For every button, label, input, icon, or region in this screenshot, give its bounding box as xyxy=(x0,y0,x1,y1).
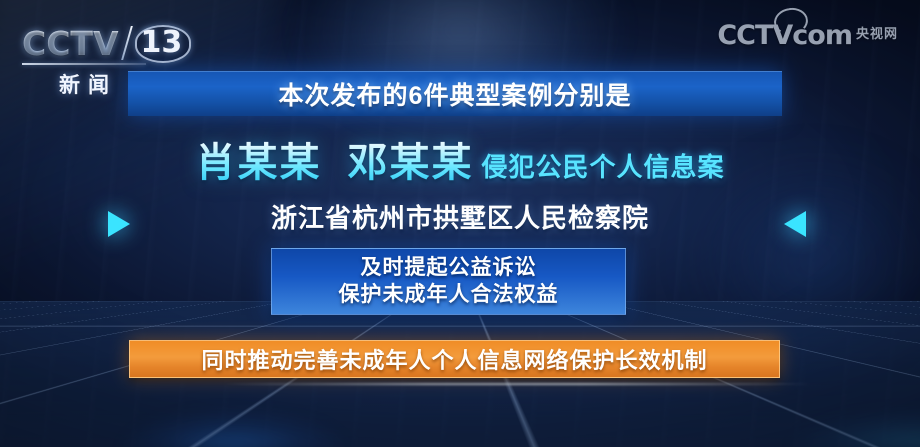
channel-number: 13 xyxy=(141,25,183,60)
case-title-line: 肖某某 邓某某 侵犯公民个人信息案 xyxy=(0,130,920,188)
triangle-right-icon xyxy=(108,211,130,237)
headline-banner: 本次发布的6件典型案例分别是 xyxy=(128,71,782,116)
logo-slash-divider xyxy=(121,26,133,60)
watermark-wordmark: CCTVcom xyxy=(717,22,852,49)
triangle-left-icon xyxy=(784,211,806,237)
channel-logo: CCTV 13 新闻 xyxy=(22,26,191,99)
headline-text: 本次发布的6件典型案例分别是 xyxy=(279,76,632,112)
cctv-wordmark: CCTV xyxy=(22,27,119,60)
action-highlight-line-1: 及时提起公益诉讼 xyxy=(361,255,537,281)
outcome-banner: 同时推动完善未成年人个人信息网络保护长效机制 xyxy=(129,340,780,378)
outcome-banner-text: 同时推动完善未成年人个人信息网络保护长效机制 xyxy=(201,343,707,375)
site-watermark: CCTVcom 央视网 xyxy=(717,22,898,49)
action-highlight-line-2: 保护未成年人合法权益 xyxy=(339,282,559,308)
case-defendant-name-2: 邓某某 xyxy=(347,130,473,188)
broadcast-frame: CCTV 13 新闻 CCTVcom 央视网 本次发布的6件典型案例分别是 肖某… xyxy=(0,0,920,447)
action-highlight-box: 及时提起公益诉讼 保护未成年人合法权益 xyxy=(271,248,626,315)
case-charge-label: 侵犯公民个人信息案 xyxy=(481,147,724,184)
channel-subtitle: 新闻 xyxy=(22,69,146,99)
watermark-cn-label: 央视网 xyxy=(856,23,898,42)
channel-logo-row: CCTV 13 xyxy=(22,26,191,60)
channel-number-badge: 13 xyxy=(135,27,192,60)
case-defendant-name-1: 肖某某 xyxy=(195,130,321,188)
channel-logo-underline xyxy=(22,63,146,65)
procuratorate-name: 浙江省杭州市拱墅区人民检察院 xyxy=(0,198,920,235)
